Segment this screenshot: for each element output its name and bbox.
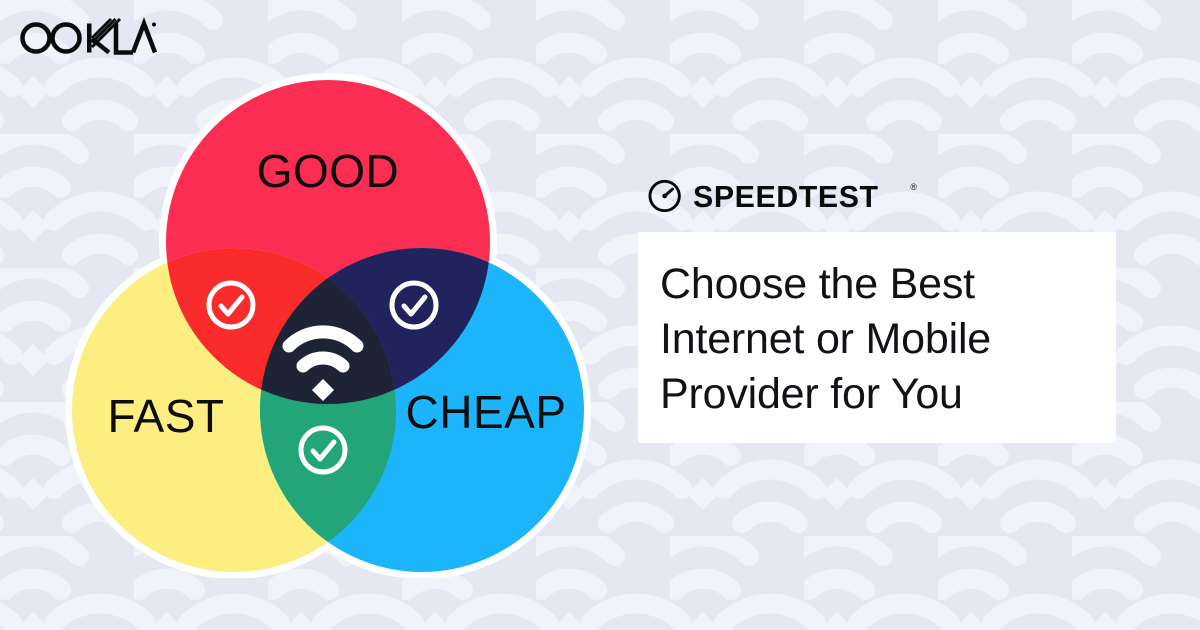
venn-label-fast: FAST <box>107 390 224 442</box>
venn-diagram: GOOD FAST CHEAP <box>38 62 618 578</box>
speedtest-wordmark: SPEEDTEST <box>693 181 879 214</box>
page-title: Choose the Best Internet or Mobile Provi… <box>660 257 991 422</box>
venn-label-cheap: CHEAP <box>406 386 567 438</box>
ookla-logo <box>18 16 158 58</box>
venn-label-good: GOOD <box>257 145 400 197</box>
speedometer-icon <box>650 181 679 210</box>
speedtest-logo: SPEEDTEST ® <box>648 176 928 216</box>
poster-canvas: GOOD FAST CHEAP SPEEDTEST ® Choose the B… <box>0 0 1200 630</box>
speedtest-trademark: ® <box>910 182 917 192</box>
headline-panel: Choose the Best Internet or Mobile Provi… <box>638 232 1116 443</box>
